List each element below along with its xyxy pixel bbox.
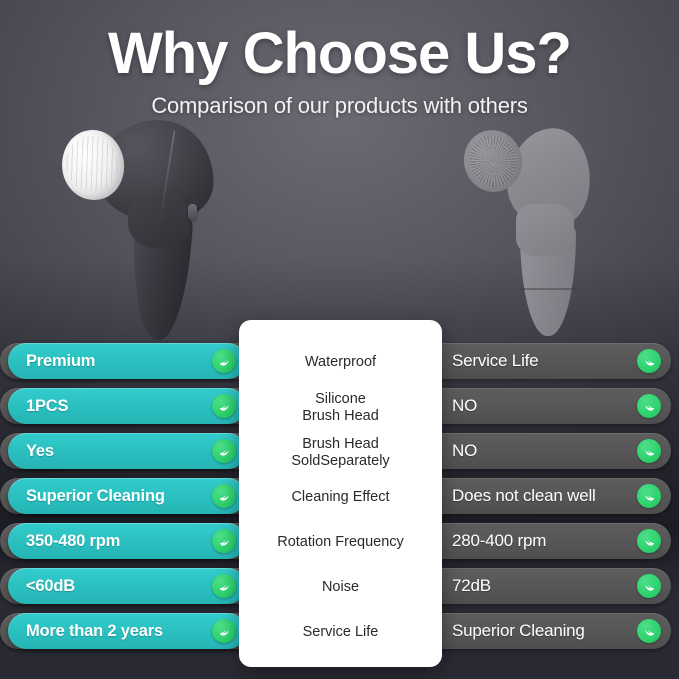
check-swoosh-icon: [212, 394, 236, 418]
our-value-pill[interactable]: Yes: [8, 433, 246, 469]
feature-label: Service Life: [239, 610, 442, 655]
feature-label: SiliconeBrush Head: [239, 385, 442, 430]
check-swoosh-icon: [212, 529, 236, 553]
our-value-pill[interactable]: 1PCS: [8, 388, 246, 424]
our-value-label: Premium: [26, 352, 212, 371]
feature-label: Rotation Frequency: [239, 520, 442, 565]
page-subtitle: Comparison of our products with others: [0, 83, 679, 119]
check-swoosh-icon: [212, 574, 236, 598]
check-swoosh-icon: [212, 349, 236, 373]
check-swoosh-icon: [212, 439, 236, 463]
feature-label: Waterproof: [239, 340, 442, 385]
our-value-label: Yes: [26, 442, 212, 461]
page-title: Why Choose Us?: [0, 0, 679, 83]
our-value-label: Superior Cleaning: [26, 487, 212, 506]
feature-label-card: WaterproofSiliconeBrush HeadBrush HeadSo…: [239, 320, 442, 667]
feature-label: Brush HeadSoldSeparately: [239, 430, 442, 475]
feature-label: Cleaning Effect: [239, 475, 442, 520]
feature-label: Noise: [239, 565, 442, 610]
our-value-pill[interactable]: Superior Cleaning: [8, 478, 246, 514]
check-swoosh-icon: [212, 619, 236, 643]
our-value-label: 350-480 rpm: [26, 532, 212, 551]
infographic-stage: Why Choose Us? Comparison of our product…: [0, 0, 679, 679]
our-value-label: More than 2 years: [26, 622, 212, 641]
our-value-pill[interactable]: 350-480 rpm: [8, 523, 246, 559]
header: Why Choose Us? Comparison of our product…: [0, 0, 679, 119]
our-value-label: <60dB: [26, 577, 212, 596]
check-swoosh-icon: [212, 484, 236, 508]
our-value-pill[interactable]: More than 2 years: [8, 613, 246, 649]
our-value-pill[interactable]: Premium: [8, 343, 246, 379]
our-value-pill[interactable]: <60dB: [8, 568, 246, 604]
our-value-label: 1PCS: [26, 397, 212, 416]
